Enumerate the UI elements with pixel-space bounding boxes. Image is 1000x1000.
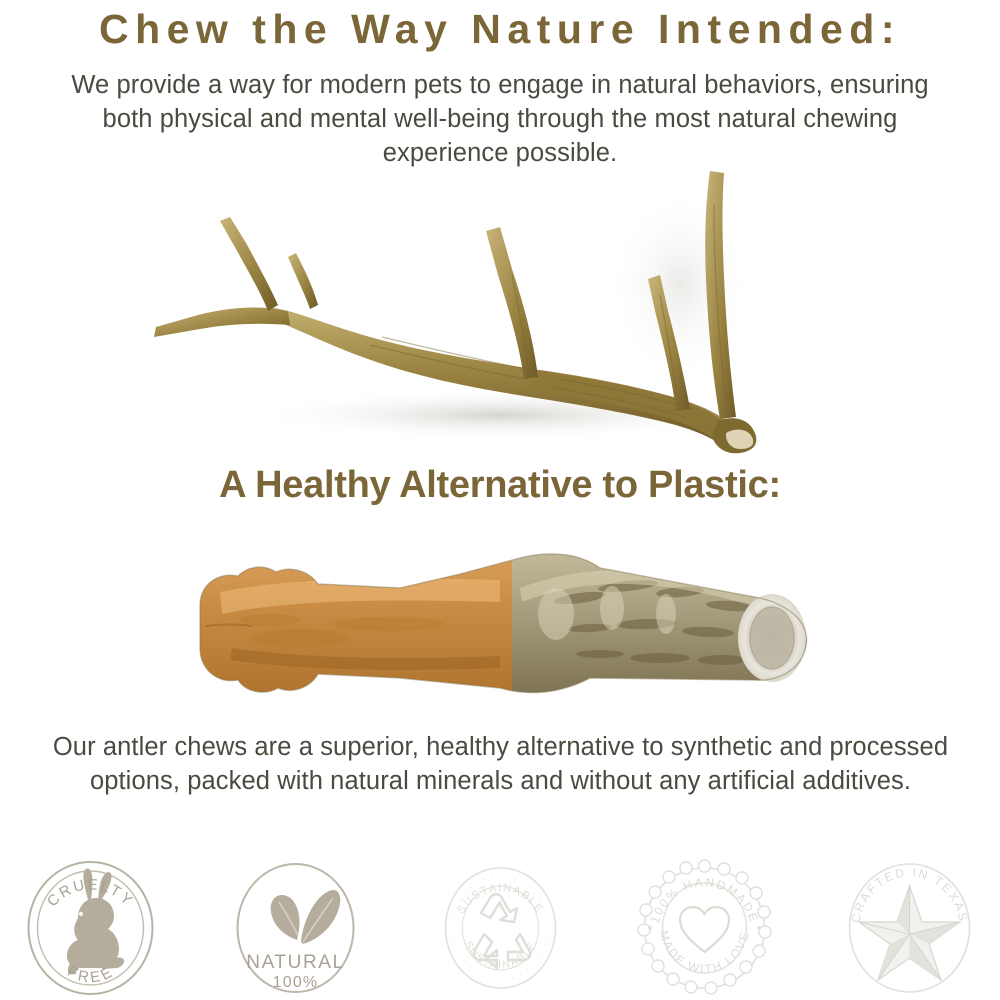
badge-line2: 100% [272,974,318,991]
badge-bottom-text: SUSTAINABLE [461,939,539,971]
leaves-icon [270,890,340,944]
badge-sustainable: SUSTAINABLE SUSTAINABLE [428,856,573,1000]
page-title: Chew the Way Nature Intended: [0,6,1000,53]
trust-badge-row: CRUELTY FREE NATURAL 100% [0,856,1000,1000]
star-icon [859,886,960,980]
intro-paragraph: We provide a way for modern pets to enga… [55,68,945,170]
antler-tine-center [486,227,538,379]
badge-handmade: 100% HANDMADE MADE WITH LOVE [632,856,777,1000]
marketing-infographic: Chew the Way Nature Intended: We provide… [0,0,1000,1000]
separator-dots [648,926,761,930]
section-subtitle: A Healthy Alternative to Plastic: [0,464,1000,507]
badge-line1: NATURAL [246,952,344,973]
antler-tine-small [288,253,318,309]
badge-crafted-in-texas: CRAFTED IN TEXAS [837,856,982,1000]
heart-icon [680,907,729,952]
badge-cruelty-free: CRUELTY FREE [18,856,163,1000]
antler-shadow-upper [610,190,750,380]
badge-top-text: SUSTAINABLE [455,882,545,916]
antler-tine-left-upper [220,217,278,311]
chew-product-photo [160,528,825,723]
outro-paragraph: Our antler chews are a superior, healthy… [48,730,953,798]
badge-natural-100: NATURAL 100% [223,856,368,1000]
antler-brow-tine [154,308,290,337]
antler-photo [120,165,800,455]
